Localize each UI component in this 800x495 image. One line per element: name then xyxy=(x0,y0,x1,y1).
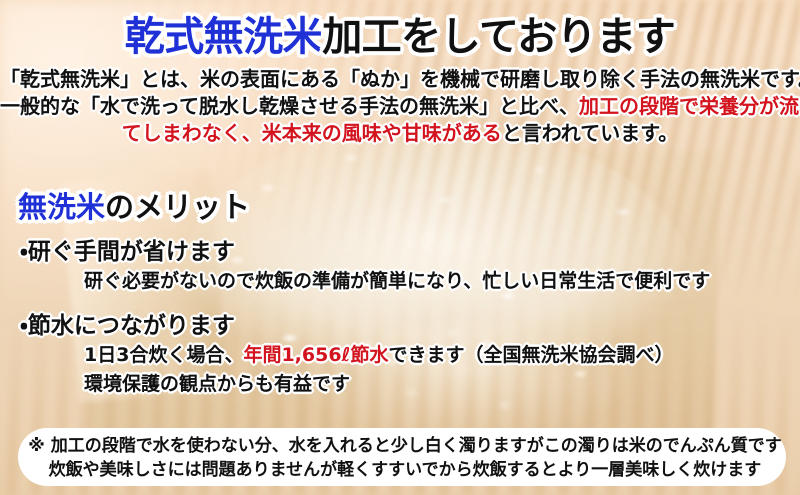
intro-line-3-text-red-b: 米本来の風味や甘味がある xyxy=(262,121,502,145)
merit-item-2-detail-1-prefix: 1日3合炊く場合、 xyxy=(84,344,243,366)
intro-line-2: 一般的な「水で洗って脱水し乾燥させる手法の無洗米」と比べ、加工の段階で栄養分が流… xyxy=(0,93,800,120)
merit-item-2-water-saving-figure: 年間1,656ℓ節水 xyxy=(243,344,388,366)
merits-heading-rest: のメリット xyxy=(105,190,250,224)
merit-item-2-detail-1-suffix: できます（全国無洗米協会調べ） xyxy=(389,344,674,366)
intro-line-2-text-red: 加工の段階で栄養分が流れ xyxy=(579,94,800,118)
merit-item-2-detail-2: 環境保護の観点からも有益です xyxy=(84,371,350,397)
merit-item-1-detail-1: 研ぐ必要がないので炊飯の準備が簡単になり、忙しい日常生活で便利です xyxy=(84,268,710,294)
intro-paragraph: 「乾式無洗米」とは、米の表面にある「ぬか」を機械で研磨し取り除く手法の無洗米です… xyxy=(0,66,800,147)
footnote-line-1: ※ 加工の段階で水を使わない分、水を入れると少し白く濁りますがこの濁りは米のでん… xyxy=(18,434,786,458)
intro-line-3-text-red-a: てしまわなく、 xyxy=(122,121,262,145)
promotional-poster: 乾式無洗米加工をしております 「乾式無洗米」とは、米の表面にある「ぬか」を機械で… xyxy=(0,0,800,495)
merits-heading-highlight: 無洗米 xyxy=(18,190,105,224)
page-title: 乾式無洗米加工をしております xyxy=(0,14,800,60)
intro-line-2-text-dark: 一般的な「水で洗って脱水し乾燥させる手法の無洗米」と比べ、 xyxy=(0,94,579,118)
intro-line-1-text: 「乾式無洗米」とは、米の表面にある「ぬか」を機械で研磨し取り除く手法の無洗米です… xyxy=(0,67,800,91)
merit-item-1-title: ・研ぐ手間が省けます xyxy=(20,238,235,266)
intro-line-3-text-dark: と言われています。 xyxy=(502,121,678,145)
merits-heading: 無洗米のメリット xyxy=(18,190,250,224)
intro-line-1: 「乾式無洗米」とは、米の表面にある「ぬか」を機械で研磨し取り除く手法の無洗米です… xyxy=(0,66,800,93)
merit-item-1-detail-1-text: 研ぐ必要がないので炊飯の準備が簡単になり、忙しい日常生活で便利です xyxy=(84,270,710,292)
intro-line-3: てしまわなく、米本来の風味や甘味があると言われています。 xyxy=(0,120,800,147)
page-title-highlight: 乾式無洗米 xyxy=(125,14,323,60)
merit-item-2-detail-1: 1日3合炊く場合、年間1,656ℓ節水できます（全国無洗米協会調べ） xyxy=(84,342,674,368)
merit-item-2-detail-2-text: 環境保護の観点からも有益です xyxy=(84,373,350,395)
merit-item-2-title: ・節水につながります xyxy=(20,312,235,340)
page-title-rest: 加工をしております xyxy=(322,14,675,60)
footnote-box: ※ 加工の段階で水を使わない分、水を入れると少し白く濁りますがこの濁りは米のでん… xyxy=(18,428,786,486)
footnote-line-2: 炊飯や美味しさには問題ありませんが軽くすすいでから炊飯するとより一層美味しく炊け… xyxy=(18,458,786,482)
